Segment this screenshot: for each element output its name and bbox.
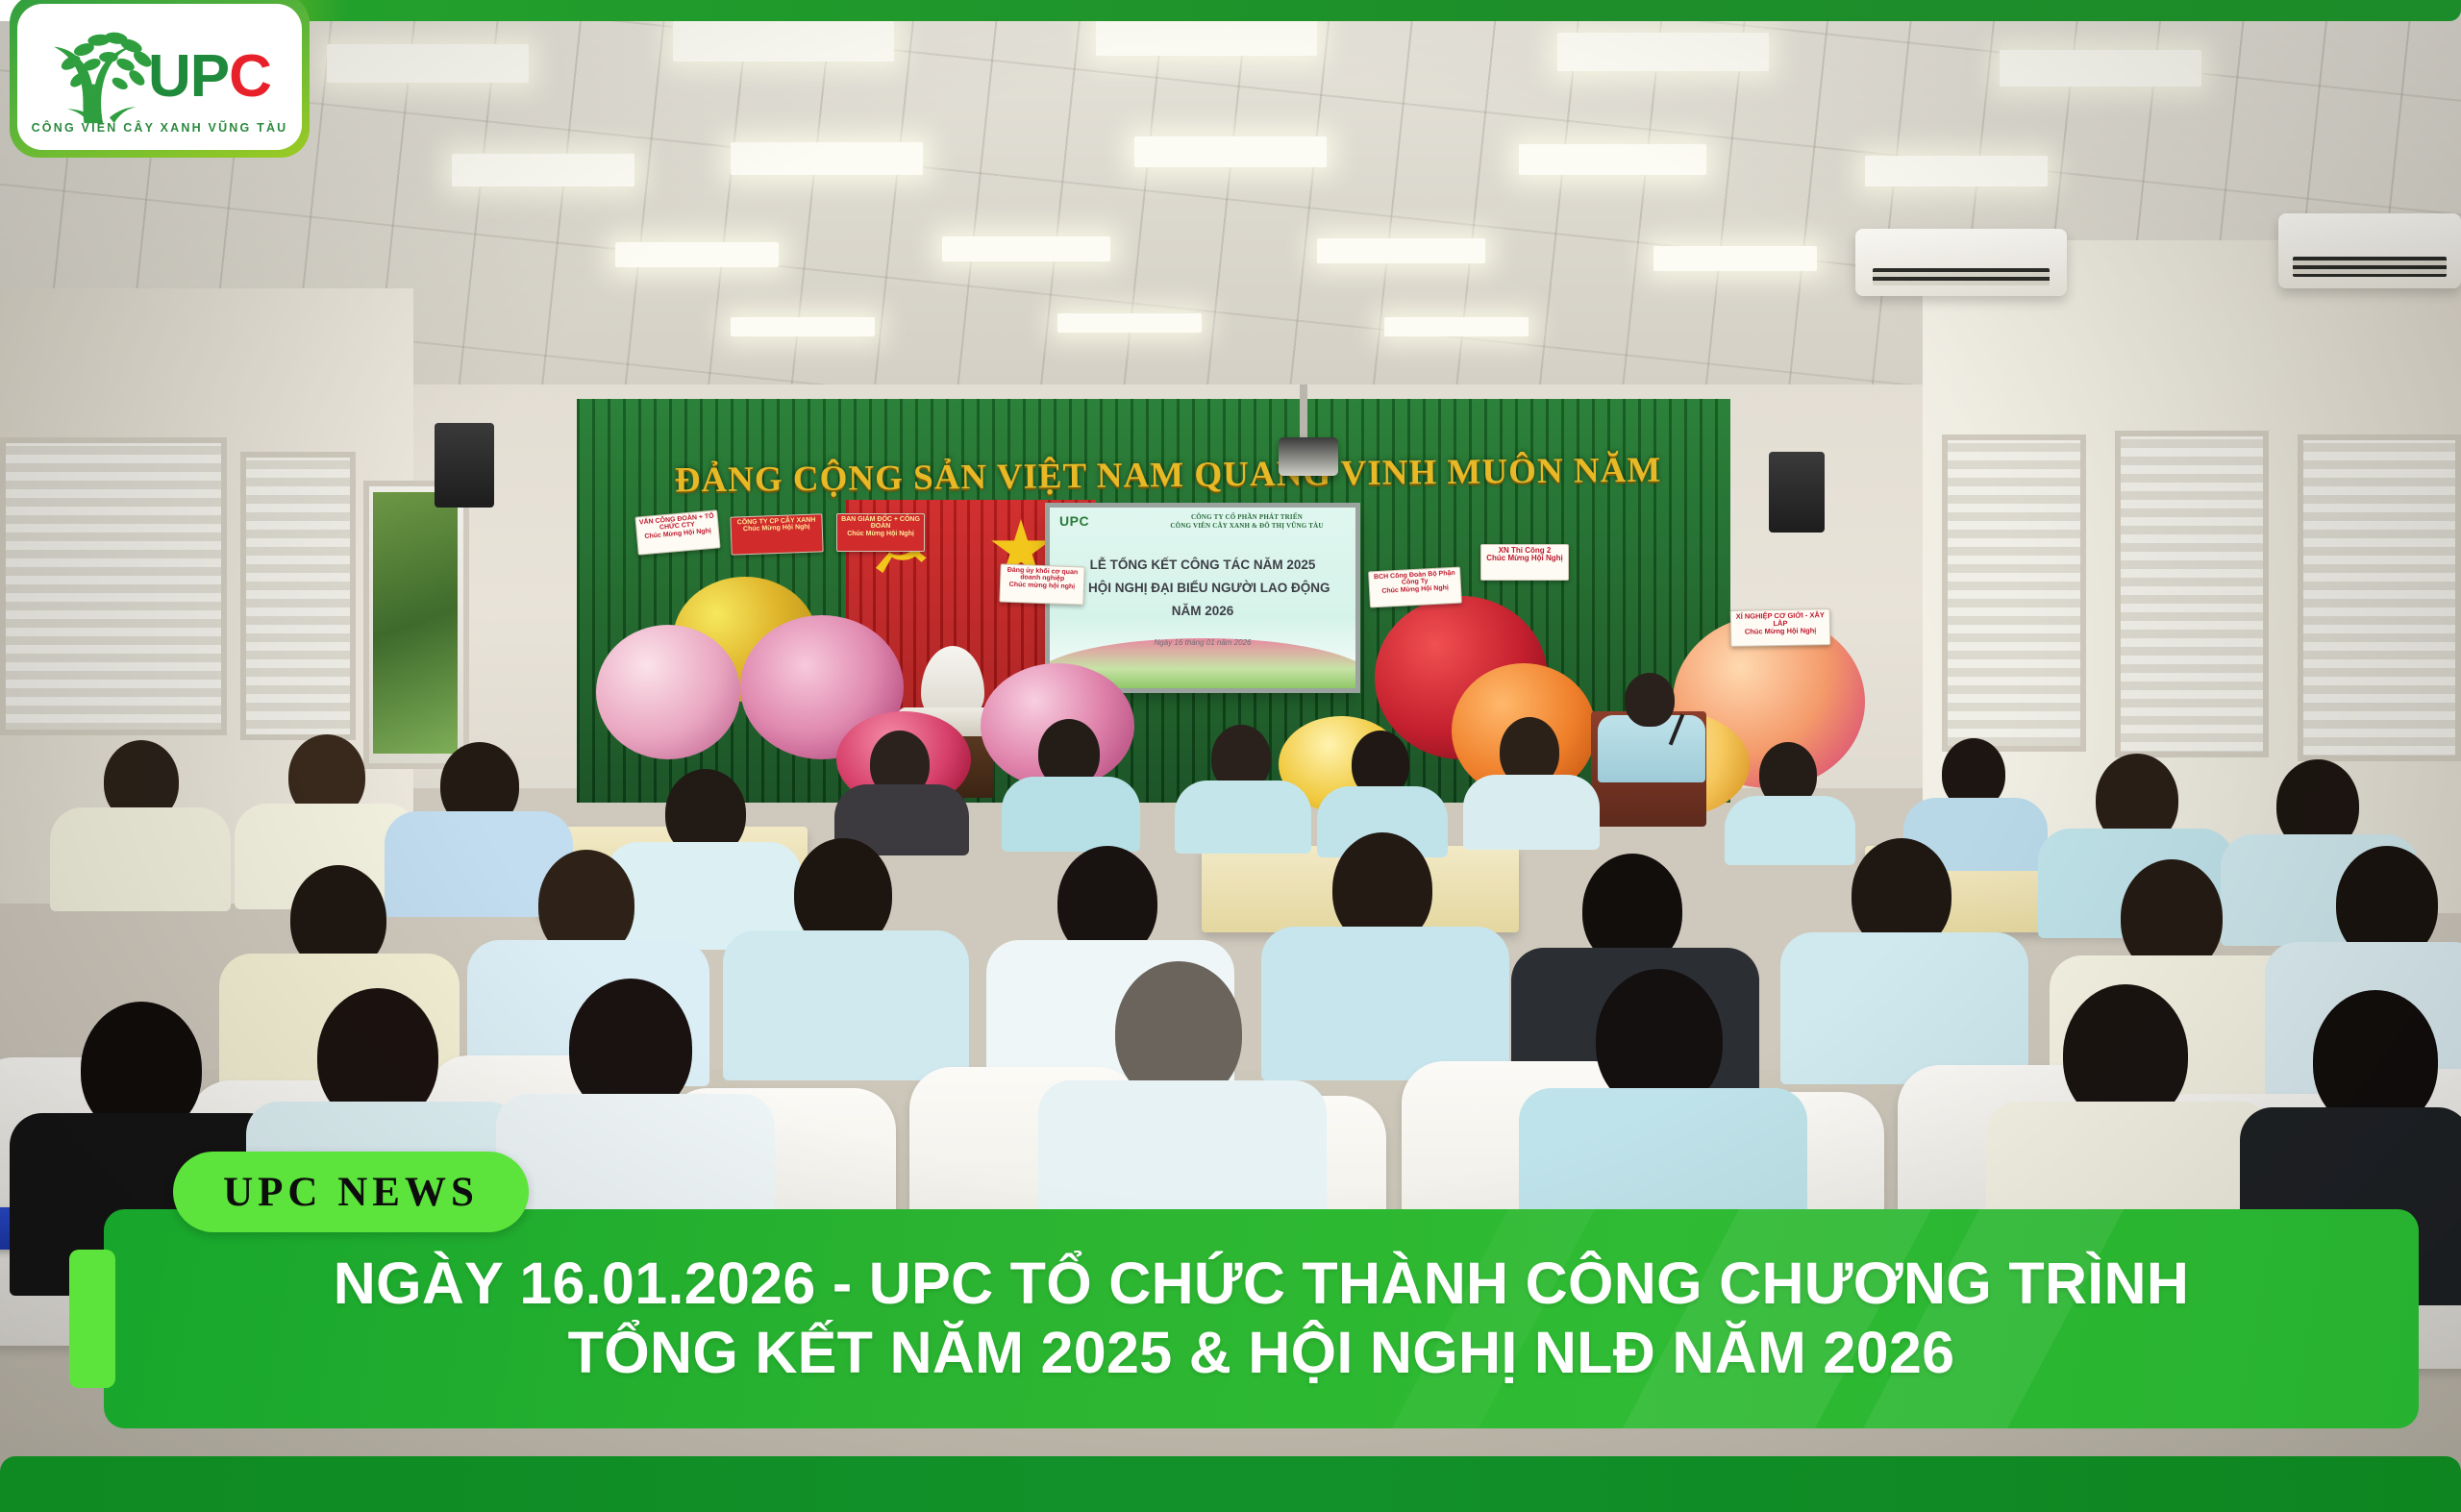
flower-greeting-card: CÔNG TY CP CÂY XANH Chúc Mừng Hội Nghị [730,513,823,555]
flower-greeting-card: BAN GIÁM ĐỐC + CÔNG ĐOÀN Chúc Mừng Hội N… [836,513,925,552]
card-line2: Chúc mừng hội nghị [1004,581,1081,590]
air-conditioner [1855,229,2067,296]
window-blinds [2115,431,2269,757]
card-line1: BAN GIÁM ĐỐC + CÔNG ĐOÀN [840,516,921,531]
headline-line2: TỔNG KẾT NĂM 2025 & HỘI NGHỊ NLĐ NĂM 202… [568,1319,1955,1388]
ceiling-light [1557,33,1769,71]
news-badge[interactable]: UPC NEWS [173,1152,529,1232]
headline-banner: NGÀY 16.01.2026 - UPC TỔ CHỨC THÀNH CÔNG… [104,1209,2419,1428]
audience-shoulders [1261,927,1509,1080]
ceiling-light [615,242,779,267]
ceiling-light [942,236,1110,261]
audience-shoulders [1780,932,2028,1084]
ceiling-light [1653,246,1817,271]
flower-greeting-card: XN Thi Công 2 Chúc Mừng Hội Nghị [1480,544,1569,581]
slide-company: CÔNG TY CỔ PHẦN PHÁT TRIỂN CÔNG VIÊN CÂY… [1142,513,1352,531]
ceiling-light [1384,317,1529,336]
hall-banner: ĐẢNG CỘNG SẢN VIỆT NAM QUANG VINH MUÔN N… [663,439,1674,511]
ceiling-light [327,44,529,83]
slide-company-line1: CÔNG TY CỔ PHẦN PHÁT TRIỂN [1142,513,1352,522]
logo-tagline: CÔNG VIÊN CÂY XANH VŨNG TÀU [17,121,302,135]
tree-icon [48,25,162,129]
ceiling-light [1057,313,1202,333]
ceiling-light [673,21,894,62]
card-line2: Chúc Mừng Hội Nghị [1484,555,1565,562]
logo-wordmark-accent: C [229,43,271,110]
slide-title-line2: & HỘI NGHỊ ĐẠI BIỂU NGƯỜI LAO ĐỘNG [1050,581,1355,595]
headline-accent-bar [69,1250,115,1388]
projector-mount [1300,384,1307,440]
ceiling-light [1096,17,1317,56]
ceiling-light [731,317,875,336]
logo-card[interactable]: UPC CÔNG VIÊN CÂY XANH VŨNG TÀU [17,4,302,150]
headline-line1: NGÀY 16.01.2026 - UPC TỔ CHỨC THÀNH CÔNG… [334,1250,2190,1319]
air-conditioner [2278,213,2461,288]
card-line2: Chúc Mừng Hội Nghị [840,531,921,537]
window-blinds [2298,434,2461,761]
slide-date: Ngày 16 tháng 01 năm 2026 [1050,638,1355,647]
ceiling-light [1317,238,1485,263]
ceiling-light [452,154,634,186]
window-blinds [0,437,227,735]
window-foliage [373,492,458,754]
speaker-head [1625,673,1675,727]
bottom-accent-bar [0,1456,2461,1512]
audience-shoulders [1463,775,1600,850]
ceiling-light [1865,156,2048,186]
slide-title-line3: NĂM 2026 [1050,604,1355,618]
flower-greeting-card: VĂN CÔNG ĐOÀN + TỔ CHỨC CTY Chúc Mừng Hộ… [634,509,720,555]
flower-greeting-card: Đảng ủy khối cơ quan doanh nghiệp Chúc m… [999,563,1084,605]
pa-speaker [435,423,494,508]
ceiling-light [2000,50,2201,87]
audience-shoulders [1725,796,1855,865]
flower-greeting-card: XÍ NGHIỆP CƠ GIỚI - XÂY LẮP Chúc Mừng Hộ… [1730,608,1831,647]
card-line2: Chúc Mừng Hội Nghị [1734,627,1827,636]
logo-wordmark-main: UP [148,43,229,110]
window-blinds [240,452,356,740]
audience-shoulders [723,930,969,1080]
flower-greeting-card: BCH Công Đoàn Bộ Phận Công Ty Chúc Mừng … [1368,567,1462,608]
slide-company-line2: CÔNG VIÊN CÂY XANH & ĐÔ THỊ VŨNG TÀU [1142,522,1352,531]
audience-shoulders [50,807,231,911]
audience-shoulders [1002,777,1140,852]
projector [1279,437,1338,476]
ceiling-light [731,142,923,175]
top-accent-bar [188,0,2461,21]
ceiling-light [1519,144,1706,175]
pa-speaker [1769,452,1825,533]
logo-wordmark: UPC [148,49,271,105]
ceiling-light [1134,136,1327,167]
projection-screen: UPC CÔNG TY CỔ PHẦN PHÁT TRIỂN CÔNG VIÊN… [1050,508,1355,688]
news-banner-image: ☭ ĐẢNG CỘNG SẢN VIỆT NAM QUANG VINH MUÔN… [0,0,2461,1512]
audience-shoulders [1175,781,1311,854]
window-blinds [1942,434,2086,752]
news-badge-label: UPC NEWS [223,1169,479,1216]
slide-logo: UPC [1059,513,1117,538]
flower-arrangement [596,625,740,759]
slide-title-line1: LỄ TỔNG KẾT CÔNG TÁC NĂM 2025 [1050,558,1355,572]
